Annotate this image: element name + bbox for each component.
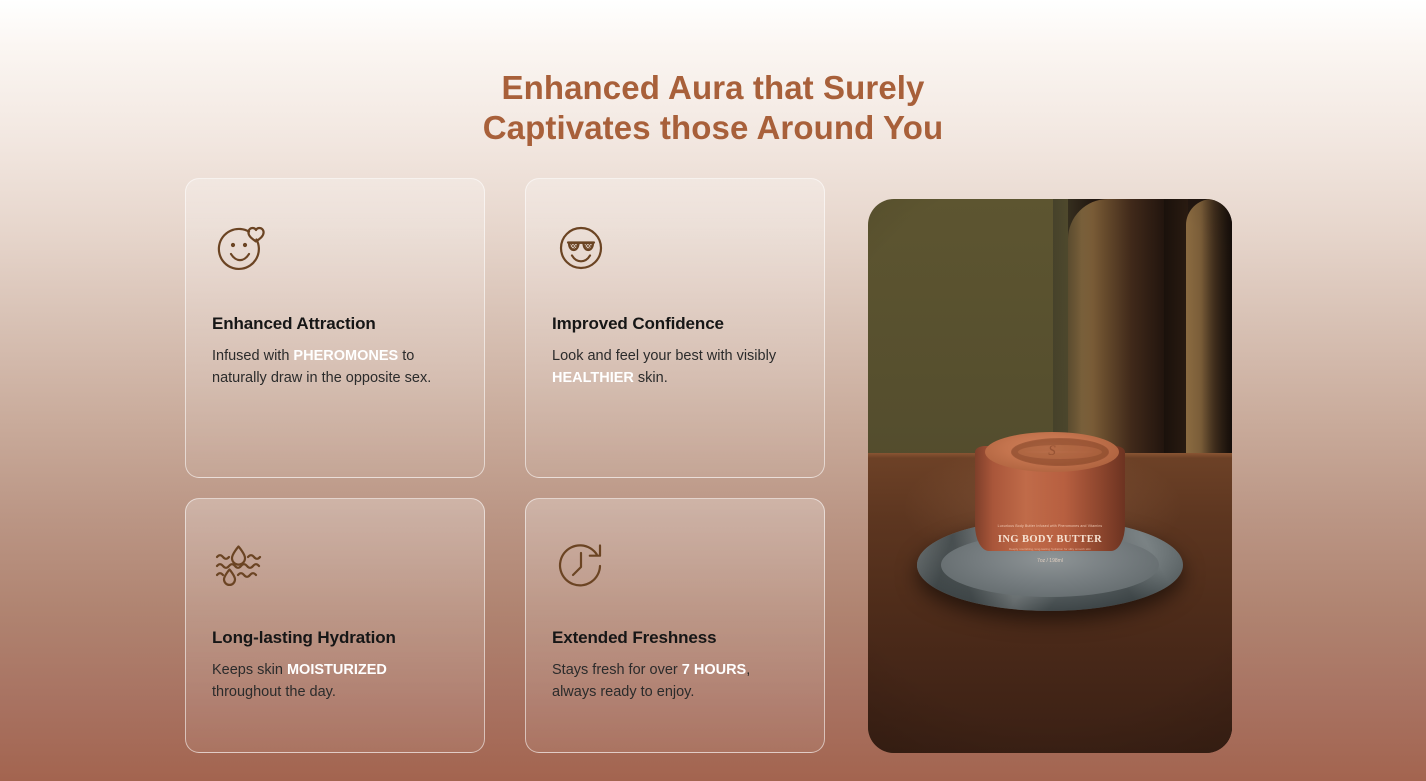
feature-card-description: Infused with PHEROMONES to naturally dra… [212, 345, 458, 389]
desc-highlight: HEALTHIER [552, 370, 634, 386]
desc-highlight: MOISTURIZED [287, 662, 387, 678]
smiley-heart-icon [212, 219, 270, 277]
feature-card-title: Long-lasting Hydration [212, 627, 458, 649]
desc-text: skin. [634, 370, 668, 386]
desc-text: throughout the day. [212, 684, 336, 700]
jar-lid-top: S [985, 432, 1119, 472]
feature-card-description: Look and feel your best with visibly HEA… [552, 345, 798, 389]
feature-card-description: Stays fresh for over 7 HOURS, always rea… [552, 659, 798, 703]
desc-text: Keeps skin [212, 662, 287, 678]
feature-card-enhanced-attraction[interactable]: Enhanced Attraction Infused with PHEROMO… [185, 178, 485, 478]
feature-card-extended-freshness[interactable]: Extended Freshness Stays fresh for over … [525, 498, 825, 753]
desc-text: Infused with [212, 348, 293, 364]
page-title-line-1: Enhanced Aura that Surely [0, 68, 1426, 108]
jar-label-sub-text: Deeply nourishing, long-lasting hydratio… [975, 547, 1125, 551]
jar-lid: S [977, 432, 1123, 484]
feature-card-title: Improved Confidence [552, 313, 798, 335]
water-droplets-waves-icon [212, 537, 270, 595]
feature-card-title: Extended Freshness [552, 627, 798, 649]
landing-section: Enhanced Aura that Surely Captivates tho… [0, 0, 1426, 781]
feature-card-long-lasting-hydration[interactable]: Long-lasting Hydration Keeps skin MOISTU… [185, 498, 485, 753]
desc-text: Look and feel your best with visibly [552, 348, 776, 364]
feature-card-improved-confidence[interactable]: Improved Confidence Look and feel your b… [525, 178, 825, 478]
jar-label-product-name: ING BODY BUTTER [975, 534, 1125, 545]
product-scene: Luxurious Body Butter Infused with Phero… [868, 199, 1232, 753]
page-title: Enhanced Aura that Surely Captivates tho… [0, 68, 1426, 148]
desc-highlight: 7 HOURS [682, 662, 746, 678]
page-title-line-2: Captivates those Around You [0, 108, 1426, 148]
product-image: Luxurious Body Butter Infused with Phero… [868, 199, 1232, 753]
brand-logo-emboss: S [1048, 443, 1056, 460]
feature-card-description: Keeps skin MOISTURIZED throughout the da… [212, 659, 458, 703]
desc-highlight: PHEROMONES [293, 348, 398, 364]
jar-label-top-text: Luxurious Body Butter Infused with Phero… [975, 524, 1125, 528]
lid-embossed-rings [1011, 438, 1109, 466]
jar-label-size: 7oz / 198ml [975, 558, 1125, 564]
body-butter-jar: Luxurious Body Butter Infused with Phero… [975, 424, 1125, 559]
clock-refresh-icon [552, 537, 610, 595]
feature-card-grid: Enhanced Attraction Infused with PHEROMO… [185, 178, 826, 753]
feature-card-title: Enhanced Attraction [212, 313, 458, 335]
smiley-sunglasses-icon [552, 219, 610, 277]
desc-text: Stays fresh for over [552, 662, 682, 678]
